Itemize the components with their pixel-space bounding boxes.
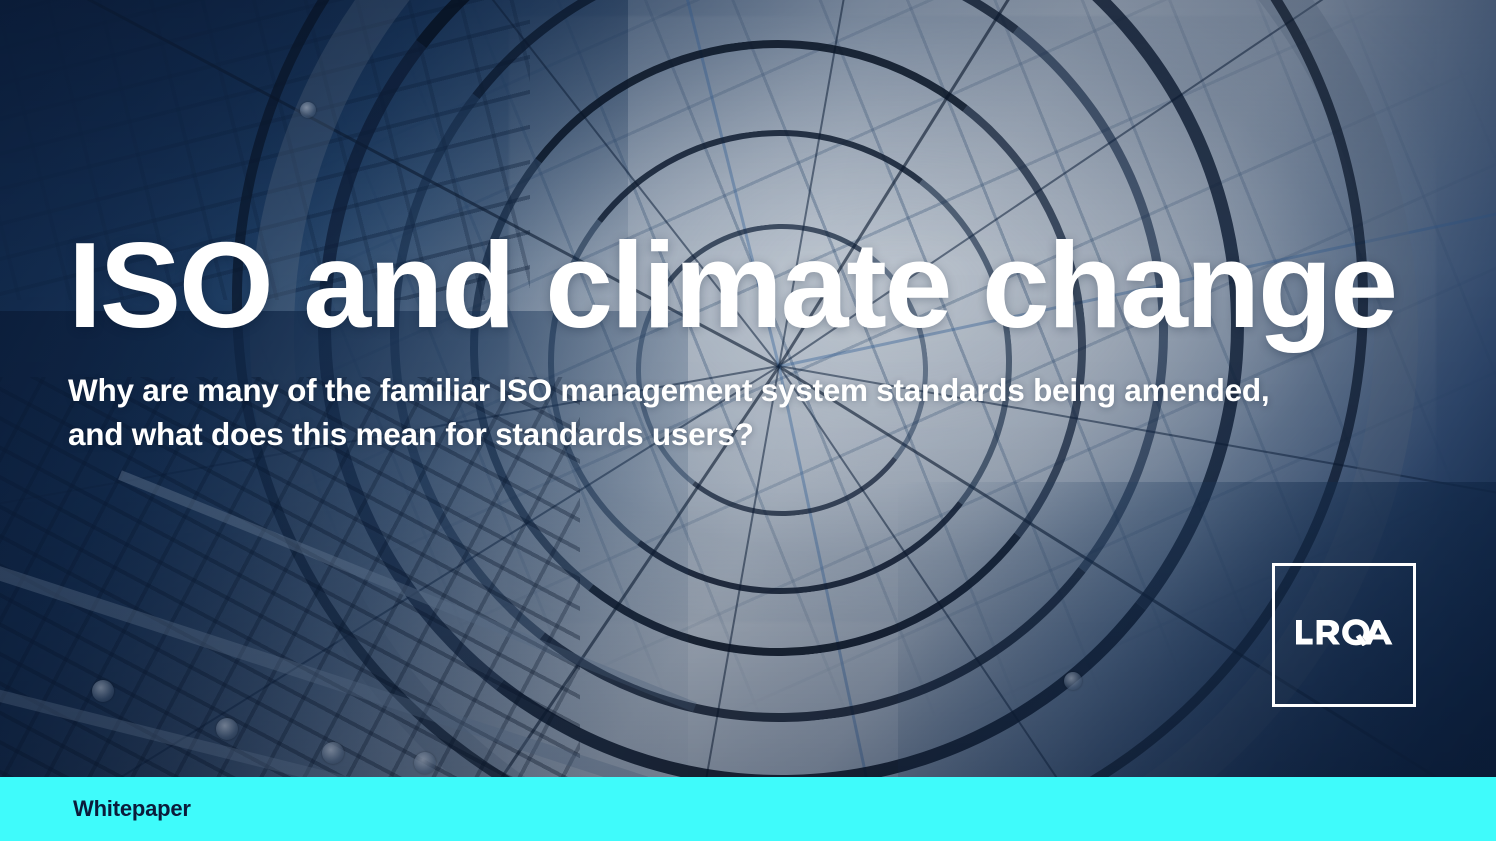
whitepaper-cover-page: ISO and climate change Why are many of t…	[0, 0, 1496, 841]
page-subtitle: Why are many of the familiar ISO managem…	[68, 368, 1283, 456]
lrqa-wordmark-icon	[1295, 618, 1393, 646]
cover-text-block: ISO and climate change Why are many of t…	[68, 224, 1398, 456]
document-type-label: Whitepaper	[73, 796, 191, 822]
page-title: ISO and climate change	[68, 224, 1398, 346]
cover-hero: ISO and climate change Why are many of t…	[0, 0, 1496, 777]
lrqa-logo	[1272, 563, 1416, 707]
footer-bar: Whitepaper	[0, 777, 1496, 841]
